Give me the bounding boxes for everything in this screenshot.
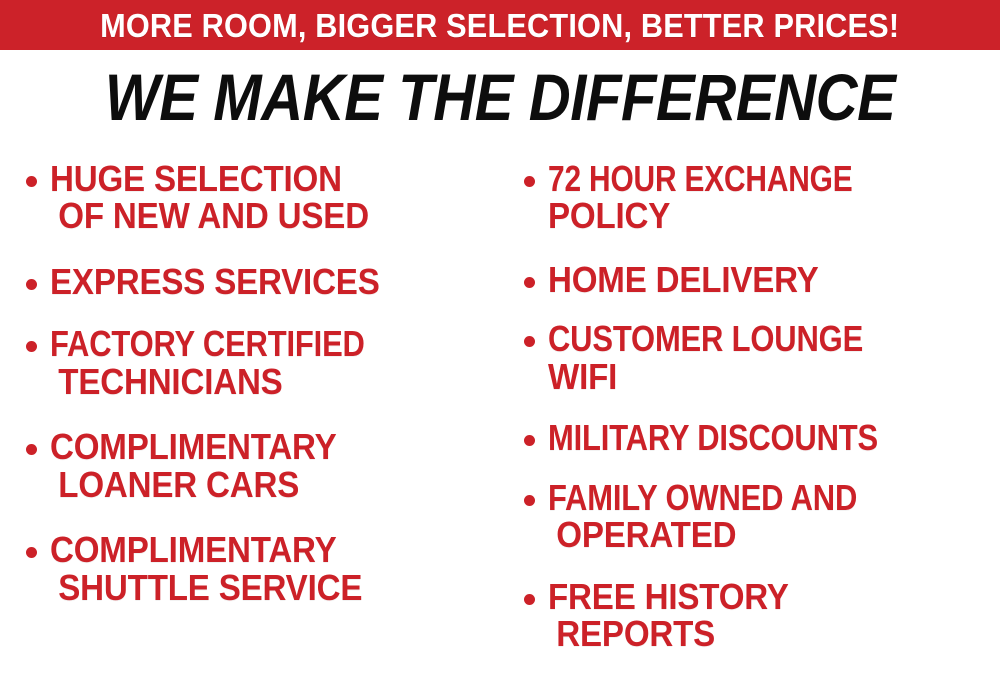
benefits-column-right: 72 HOUR EXCHANGE POLICY HOME DELIVERY CU… [514,160,1000,674]
benefit-item-text: MILITARY DISCOUNTS [548,419,1000,456]
benefit-item: COMPLIMENTARY SHUTTLE SERVICE [16,531,508,606]
benefit-item-text: FAMILY OWNED AND OPERATED [548,479,1000,554]
benefit-line: MILITARY DISCOUNTS [548,419,937,456]
benefits-columns: HUGE SELECTION OF NEW AND USED EXPRESS S… [0,160,1000,694]
benefit-line: COMPLIMENTARY [50,428,471,465]
benefit-item-text: CUSTOMER LOUNGE WIFI [548,320,1000,395]
benefit-item: CUSTOMER LOUNGE WIFI [514,320,1000,395]
bullet-dot-icon [26,547,37,558]
benefit-item-text: HOME DELIVERY [548,261,1000,298]
benefit-item: FACTORY CERTIFIED TECHNICIANS [16,325,508,400]
promo-banner: MORE ROOM, BIGGER SELECTION, BETTER PRIC… [0,0,1000,50]
bullet-dot-icon [524,435,535,446]
benefit-line: POLICY [548,197,964,234]
benefit-item: 72 HOUR EXCHANGE POLICY [514,160,1000,235]
benefit-item: HUGE SELECTION OF NEW AND USED [16,160,508,235]
benefit-item-text: HUGE SELECTION OF NEW AND USED [50,160,508,235]
bullet-dot-icon [26,341,37,352]
benefits-column-left: HUGE SELECTION OF NEW AND USED EXPRESS S… [16,160,508,628]
benefit-line: REPORTS [548,615,964,652]
headline-text: WE MAKE THE DIFFERENCE [105,64,896,130]
bullet-dot-icon [26,176,37,187]
benefit-line: HUGE SELECTION [50,160,471,197]
benefit-line: FREE HISTORY [548,578,964,615]
benefit-item: MILITARY DISCOUNTS [514,419,1000,456]
benefit-item-text: 72 HOUR EXCHANGE POLICY [548,160,1000,235]
promo-banner-text: MORE ROOM, BIGGER SELECTION, BETTER PRIC… [100,9,899,42]
benefit-line: CUSTOMER LOUNGE [548,320,937,357]
benefit-line: HOME DELIVERY [548,261,964,298]
benefit-line: OF NEW AND USED [50,197,471,234]
bullet-dot-icon [524,336,535,347]
benefit-item: FREE HISTORY REPORTS [514,578,1000,653]
benefit-item: HOME DELIVERY [514,261,1000,298]
bullet-dot-icon [524,495,535,506]
benefit-line: WIFI [548,358,964,395]
benefit-line: FACTORY CERTIFIED [50,325,444,362]
benefit-line: OPERATED [548,516,964,553]
benefit-item-text: EXPRESS SERVICES [50,263,508,300]
bullet-dot-icon [524,277,535,288]
bullet-dot-icon [524,594,535,605]
benefit-line: TECHNICIANS [50,363,471,400]
benefit-line: SHUTTLE SERVICE [50,569,471,606]
bullet-dot-icon [524,176,535,187]
benefit-line: 72 HOUR EXCHANGE [548,160,923,197]
benefit-line: FAMILY OWNED AND [548,479,937,516]
benefit-item-text: COMPLIMENTARY LOANER CARS [50,428,508,503]
benefit-item: FAMILY OWNED AND OPERATED [514,479,1000,554]
bullet-dot-icon [26,279,37,290]
benefit-item: EXPRESS SERVICES [16,263,508,300]
benefit-item-text: FACTORY CERTIFIED TECHNICIANS [50,325,508,400]
benefit-line: EXPRESS SERVICES [50,263,471,300]
headline: WE MAKE THE DIFFERENCE [0,64,1000,130]
benefit-line: LOANER CARS [50,466,471,503]
benefit-item: COMPLIMENTARY LOANER CARS [16,428,508,503]
benefit-item-text: FREE HISTORY REPORTS [548,578,1000,653]
bullet-dot-icon [26,444,37,455]
benefit-line: COMPLIMENTARY [50,531,471,568]
benefit-item-text: COMPLIMENTARY SHUTTLE SERVICE [50,531,508,606]
